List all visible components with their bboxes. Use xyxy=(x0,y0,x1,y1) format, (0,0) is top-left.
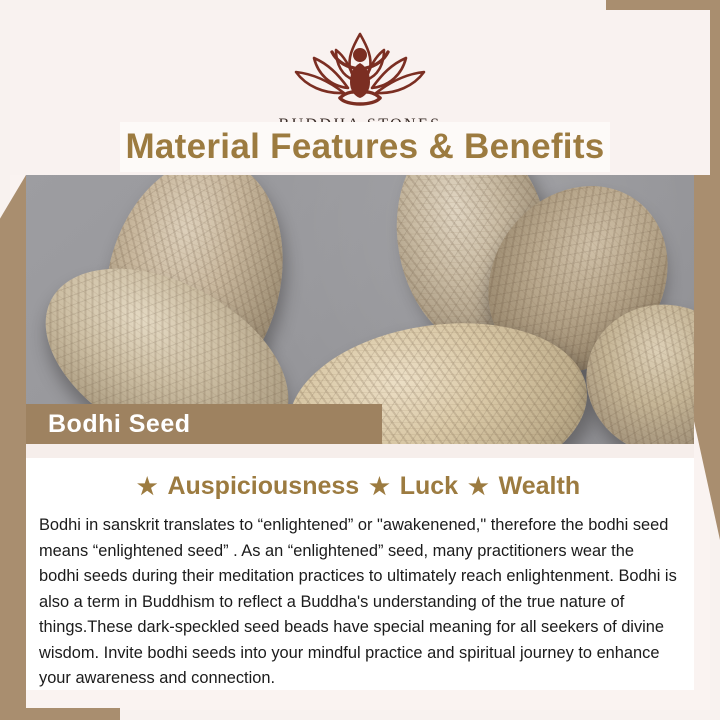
brand-logo: BUDDHA STONES xyxy=(10,28,710,134)
benefit-luck: Luck xyxy=(400,472,458,500)
description-text: Bodhi in sanskrit translates to “enlight… xyxy=(39,513,678,692)
frame-accent-left xyxy=(0,175,26,720)
photo-content-separator xyxy=(26,444,694,458)
photo-caption-band: Bodhi Seed xyxy=(26,404,382,444)
benefit-auspiciousness: Auspiciousness xyxy=(167,472,359,500)
page-title: Material Features & Benefits xyxy=(125,127,604,167)
photo-caption: Bodhi Seed xyxy=(48,410,191,439)
star-icon: ★ xyxy=(137,473,158,499)
benefits-heading: ★ Auspiciousness ★ Luck ★ Wealth xyxy=(26,472,694,501)
infographic-page: BUDDHA STONES Material Features & Benefi… xyxy=(0,0,720,720)
star-icon: ★ xyxy=(369,473,390,499)
content-section: ★ Auspiciousness ★ Luck ★ Wealth Bodhi i… xyxy=(26,458,694,690)
lotus-meditation-figure-icon xyxy=(270,28,450,114)
frame-accent-bottom-left xyxy=(0,708,120,720)
benefit-wealth: Wealth xyxy=(499,472,581,500)
title-banner: Material Features & Benefits xyxy=(120,122,610,172)
star-icon: ★ xyxy=(468,473,489,499)
